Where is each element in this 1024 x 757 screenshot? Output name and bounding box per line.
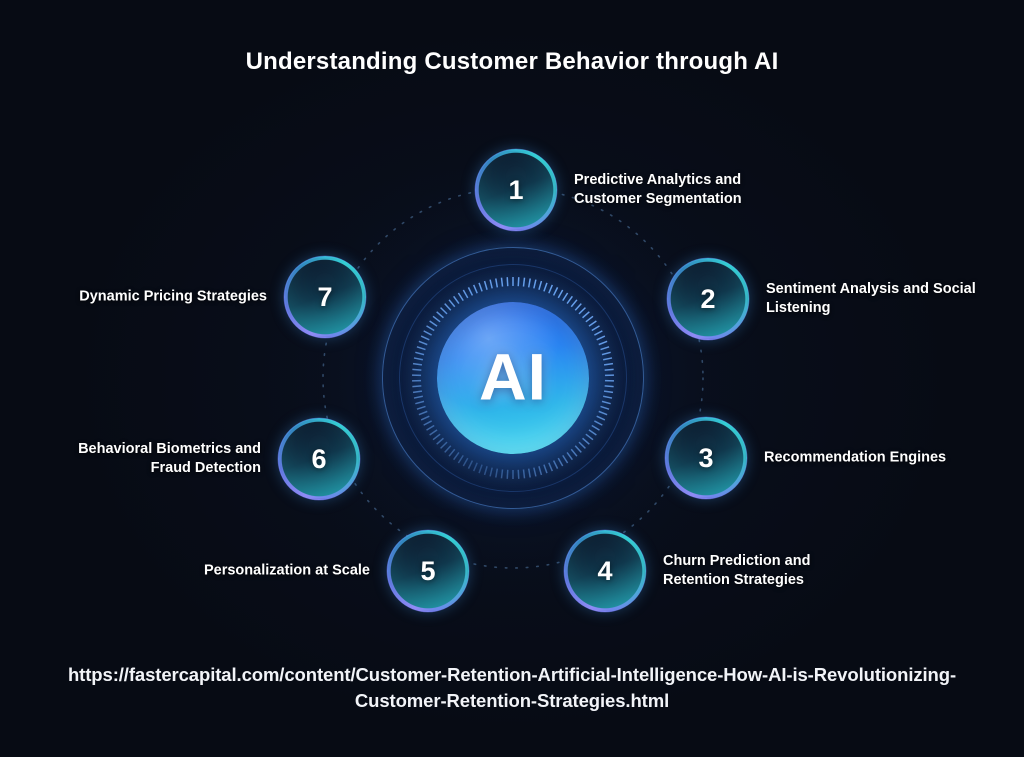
node-circle-7[interactable]: 7 bbox=[285, 257, 365, 337]
node-number-7: 7 bbox=[317, 284, 332, 311]
node-label-1: Predictive Analytics and Customer Segmen… bbox=[574, 171, 784, 209]
node-number-4: 4 bbox=[597, 558, 612, 585]
node-number-6: 6 bbox=[311, 446, 326, 473]
node-number-1: 1 bbox=[508, 177, 523, 204]
source-url: https://fastercapital.com/content/Custom… bbox=[62, 662, 962, 713]
node-label-3: Recommendation Engines bbox=[764, 448, 974, 467]
node-number-3: 3 bbox=[698, 445, 713, 472]
node-label-5: Personalization at Scale bbox=[160, 561, 370, 580]
node-label-7: Dynamic Pricing Strategies bbox=[57, 287, 267, 306]
node-circle-5[interactable]: 5 bbox=[388, 531, 468, 611]
node-label-4: Churn Prediction and Retention Strategie… bbox=[663, 552, 873, 590]
node-circle-2[interactable]: 2 bbox=[668, 259, 748, 339]
node-number-5: 5 bbox=[420, 558, 435, 585]
node-number-2: 2 bbox=[700, 286, 715, 313]
node-label-2: Sentiment Analysis and Social Listening bbox=[766, 280, 976, 318]
node-circle-1[interactable]: 1 bbox=[476, 150, 556, 230]
node-circle-6[interactable]: 6 bbox=[279, 419, 359, 499]
node-label-6: Behavioral Biometrics and Fraud Detectio… bbox=[51, 440, 261, 478]
node-circle-3[interactable]: 3 bbox=[666, 418, 746, 498]
node-circle-4[interactable]: 4 bbox=[565, 531, 645, 611]
infographic-canvas: Understanding Customer Behavior through … bbox=[0, 0, 1024, 757]
hub-label: AI bbox=[479, 344, 547, 410]
